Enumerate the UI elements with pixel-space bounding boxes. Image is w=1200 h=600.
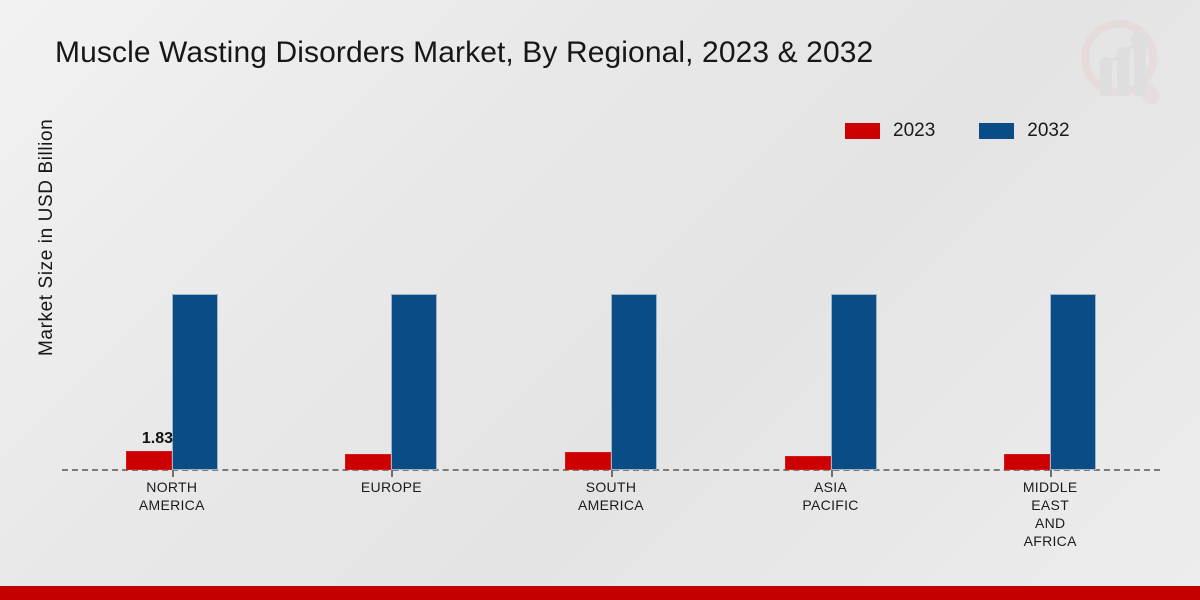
bar-2032-south-america[interactable] <box>611 294 657 470</box>
x-axis-label-europe: EUROPE <box>282 478 502 550</box>
legend-label-2032: 2032 <box>1027 120 1069 142</box>
x-axis-labels: NORTH AMERICA EUROPE SOUTH AMERICA ASIA … <box>62 478 1160 550</box>
bar-group-middle-east-and-africa <box>940 170 1160 470</box>
chart-container: Muscle Wasting Disorders Market, By Regi… <box>0 0 1200 600</box>
bar-2032-europe[interactable] <box>391 294 437 470</box>
watermark-logo <box>1072 14 1182 114</box>
legend-swatch-2032 <box>979 123 1014 139</box>
bars <box>565 170 657 470</box>
bar-2023-north-america[interactable] <box>126 451 172 470</box>
x-axis-label-line: NORTH <box>62 478 282 496</box>
plot-area: 1.83 <box>62 170 1160 470</box>
x-axis-label-line: AFRICA <box>940 532 1160 550</box>
bar-2023-middle-east-and-africa[interactable] <box>1004 454 1050 470</box>
bar-group-asia-pacific <box>721 170 941 470</box>
x-axis-label-line: MIDDLE <box>940 478 1160 496</box>
bar-group-north-america: 1.83 <box>62 170 282 470</box>
chart-title: Muscle Wasting Disorders Market, By Regi… <box>55 36 873 70</box>
y-axis-title: Market Size in USD Billion <box>36 36 58 356</box>
x-axis-tick <box>831 470 833 477</box>
bar-2023-europe[interactable] <box>345 454 391 470</box>
x-axis-tick <box>611 470 613 477</box>
bar-2032-asia-pacific[interactable] <box>831 294 877 470</box>
x-axis-label-middle-east-and-africa: MIDDLE EAST AND AFRICA <box>940 478 1160 550</box>
bars <box>1004 170 1096 470</box>
x-axis-label-line: EAST <box>940 496 1160 514</box>
x-axis-label-line: SOUTH <box>501 478 721 496</box>
x-axis-label-south-america: SOUTH AMERICA <box>501 478 721 550</box>
legend-item-2032[interactable]: 2032 <box>979 120 1069 142</box>
bar-value-label-north-america: 1.83 <box>142 430 173 448</box>
bars <box>126 170 218 470</box>
x-axis-label-line: AMERICA <box>501 496 721 514</box>
legend-item-2023[interactable]: 2023 <box>845 120 935 142</box>
x-axis-label-line: PACIFIC <box>721 496 941 514</box>
bars <box>345 170 437 470</box>
legend-label-2023: 2023 <box>893 120 935 142</box>
bar-2032-north-america[interactable] <box>172 294 218 470</box>
bar-2023-south-america[interactable] <box>565 452 611 470</box>
bars <box>785 170 877 470</box>
x-axis-tick <box>172 470 174 477</box>
x-axis-tick <box>1050 470 1052 477</box>
footer-accent-bar <box>0 586 1200 600</box>
x-axis-label-asia-pacific: ASIA PACIFIC <box>721 478 941 550</box>
bar-2023-asia-pacific[interactable] <box>785 456 831 470</box>
bar-2032-middle-east-and-africa[interactable] <box>1050 294 1096 470</box>
x-axis-label-line: ASIA <box>721 478 941 496</box>
chart-legend: 2023 2032 <box>845 120 1070 142</box>
bar-group-europe <box>282 170 502 470</box>
bar-group-south-america <box>501 170 721 470</box>
x-axis-label-line: AND <box>940 514 1160 532</box>
x-axis-label-north-america: NORTH AMERICA <box>62 478 282 550</box>
x-axis-label-line: AMERICA <box>62 496 282 514</box>
legend-swatch-2023 <box>845 123 880 139</box>
x-axis-tick <box>391 470 393 477</box>
x-axis-label-line: EUROPE <box>282 478 502 496</box>
